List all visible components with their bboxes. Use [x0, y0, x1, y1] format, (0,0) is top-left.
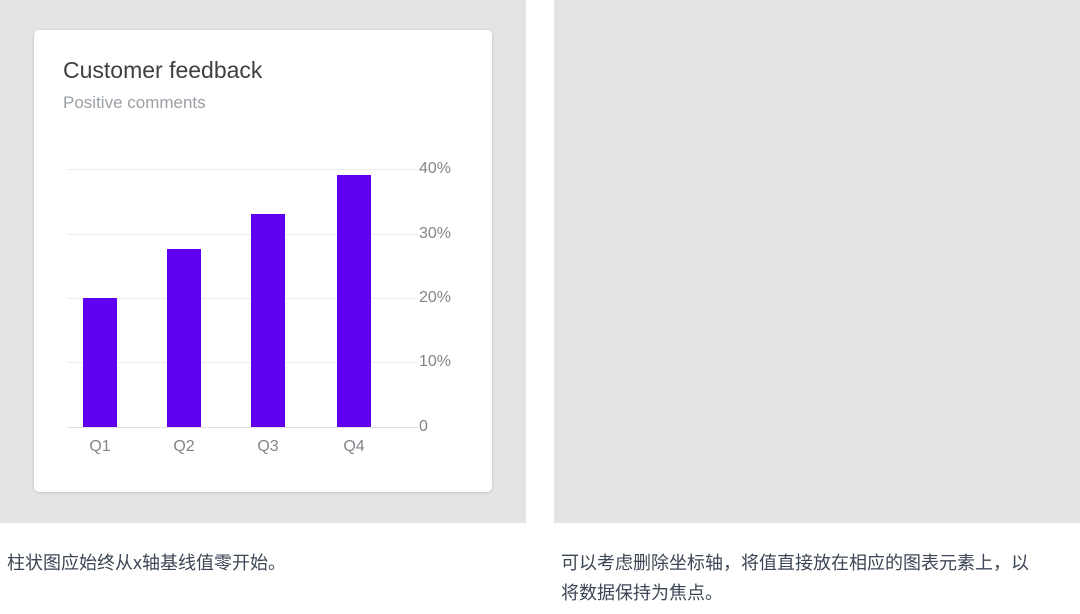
- xtick-label-q3: Q3: [244, 438, 292, 456]
- xtick-label-q4: Q4: [330, 438, 378, 456]
- ytick-label-20: 20%: [419, 289, 451, 307]
- ytick-label-40: 40%: [419, 160, 451, 178]
- ytick-label-0: 0: [419, 418, 428, 436]
- chart-card-left: Customer feedback Positive comments 40% …: [34, 30, 492, 492]
- bar-q1: [83, 298, 117, 427]
- xtick-label-q2: Q2: [160, 438, 208, 456]
- bar-q3: [251, 214, 285, 427]
- plot-area-left: 40% 30% 20% 10% 0 Q1 Q2 Q3 Q4: [34, 30, 492, 492]
- ytick-label-30: 30%: [419, 225, 451, 243]
- gridline-40: [67, 169, 418, 170]
- panel-do-example: Customer feedback Positive comments 22% …: [554, 0, 1080, 523]
- bar-q4: [337, 175, 371, 427]
- bar-q2: [167, 249, 201, 427]
- caption-dont-example: 柱状图应始终从x轴基线值零开始。: [7, 548, 512, 578]
- caption-do-example: 可以考虑删除坐标轴，将值直接放在相应的图表元素上，以将数据保持为焦点。: [561, 548, 1041, 608]
- ytick-label-10: 10%: [419, 353, 451, 371]
- panel-dont-example: Customer feedback Positive comments 40% …: [0, 0, 526, 523]
- gridline-baseline-0: [67, 427, 418, 428]
- comparison-figure: Customer feedback Positive comments 40% …: [0, 0, 1080, 614]
- xtick-label-q1: Q1: [76, 438, 124, 456]
